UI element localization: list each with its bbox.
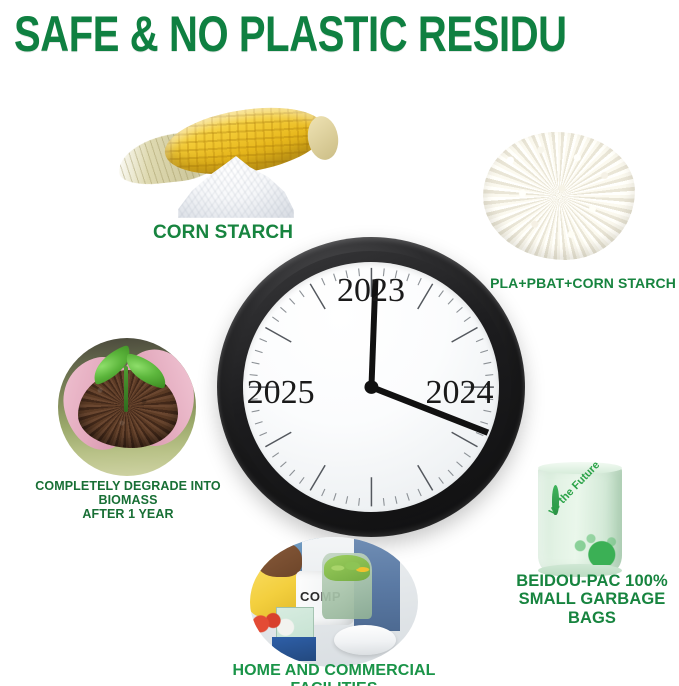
white-lid-shape: [334, 625, 396, 655]
page-title: SAFE & NO PLASTIC RESIDU: [14, 8, 526, 60]
seedling-soil-image: [58, 338, 196, 476]
clock-year-2025: 2025: [247, 376, 315, 410]
compost-facility-image: COMP: [250, 537, 418, 667]
seedling-stem-shape: [124, 366, 128, 412]
year-clock: 2023 2024 2025: [217, 237, 525, 537]
corn-tip-shape: [305, 114, 342, 162]
product-infographic: SAFE & NO PLASTIC RESIDU CORN STARCH PLA…: [0, 0, 679, 686]
clock-year-2023: 2023: [337, 274, 405, 308]
product-box-shape: [272, 637, 316, 661]
corn-starch-image: [112, 98, 336, 216]
clock-face: 2023 2024 2025: [243, 262, 500, 512]
vegetable-scraps-shape: [324, 555, 370, 581]
garbage-bag-roll-image: ve the Future: [538, 467, 622, 571]
caption-degrade-biomass: COMPLETELY DEGRADE INTO BIOMASS AFTER 1 …: [12, 479, 244, 521]
caption-home-commercial: HOME AND COMMERCIAL FACILITIES: [200, 662, 468, 686]
clock-year-2024: 2024: [425, 376, 493, 410]
caption-beidou-pac-bags: BEIDOU-PAC 100% SMALL GARBAGE BAGS: [508, 572, 676, 627]
earth-graphic-icon: [564, 525, 618, 565]
arm-shape: [256, 541, 302, 577]
tomatoes-shape: [252, 611, 300, 639]
